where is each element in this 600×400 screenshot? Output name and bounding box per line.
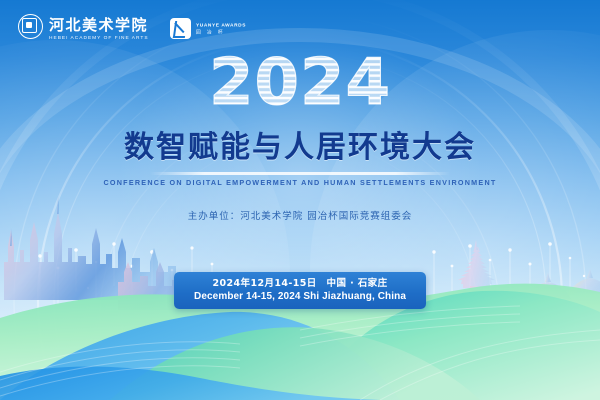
page-title-en: CONFERENCE ON DIGITAL EMPOWERMENT AND HU… [0,178,600,187]
event-date-badge: 2024年12月14-15日 中国 · 石家庄 December 14-15, … [174,272,426,309]
logo-hebei-academy[interactable]: 河北美术学院 HEBEI ACADEMY OF FINE ARTS [18,14,148,42]
logo-secondary-cn-name: 园 冶 杯 [196,28,246,35]
logo-yuanye-cup[interactable]: YUANYE AWARDS 园 冶 杯 [170,18,238,39]
logo-primary-cn-name: 河北美术学院 [49,18,148,35]
yuanye-cup-mark-icon [170,18,191,39]
header-logos: 河北美术学院 HEBEI ACADEMY OF FINE ARTS YUANYE… [18,14,238,42]
year-2024-outline: 2024 [209,52,391,114]
hebei-academy-seal-icon [18,14,43,39]
event-date-en: December 14-15, 2024 Shi Jiazhuang, Chin… [194,290,406,303]
event-date-cn: 2024年12月14-15日 中国 · 石家庄 [194,277,406,290]
page-title-cn: 数智赋能与人居环境大会 [0,131,600,165]
year-headline: 2024 2024 [0,52,600,114]
title-divider [150,172,450,175]
organizer-line: 主办单位：河北美术学院 园冶杯国际竞赛组委会 [0,208,600,222]
logo-primary-en-name: HEBEI ACADEMY OF FINE ARTS [49,34,182,43]
logo-secondary-en-name: YUANYE AWARDS [196,21,246,28]
conference-poster: 河北美术学院 HEBEI ACADEMY OF FINE ARTS YUANYE… [0,0,600,400]
year-2024-graphic: 2024 2024 [205,52,395,114]
